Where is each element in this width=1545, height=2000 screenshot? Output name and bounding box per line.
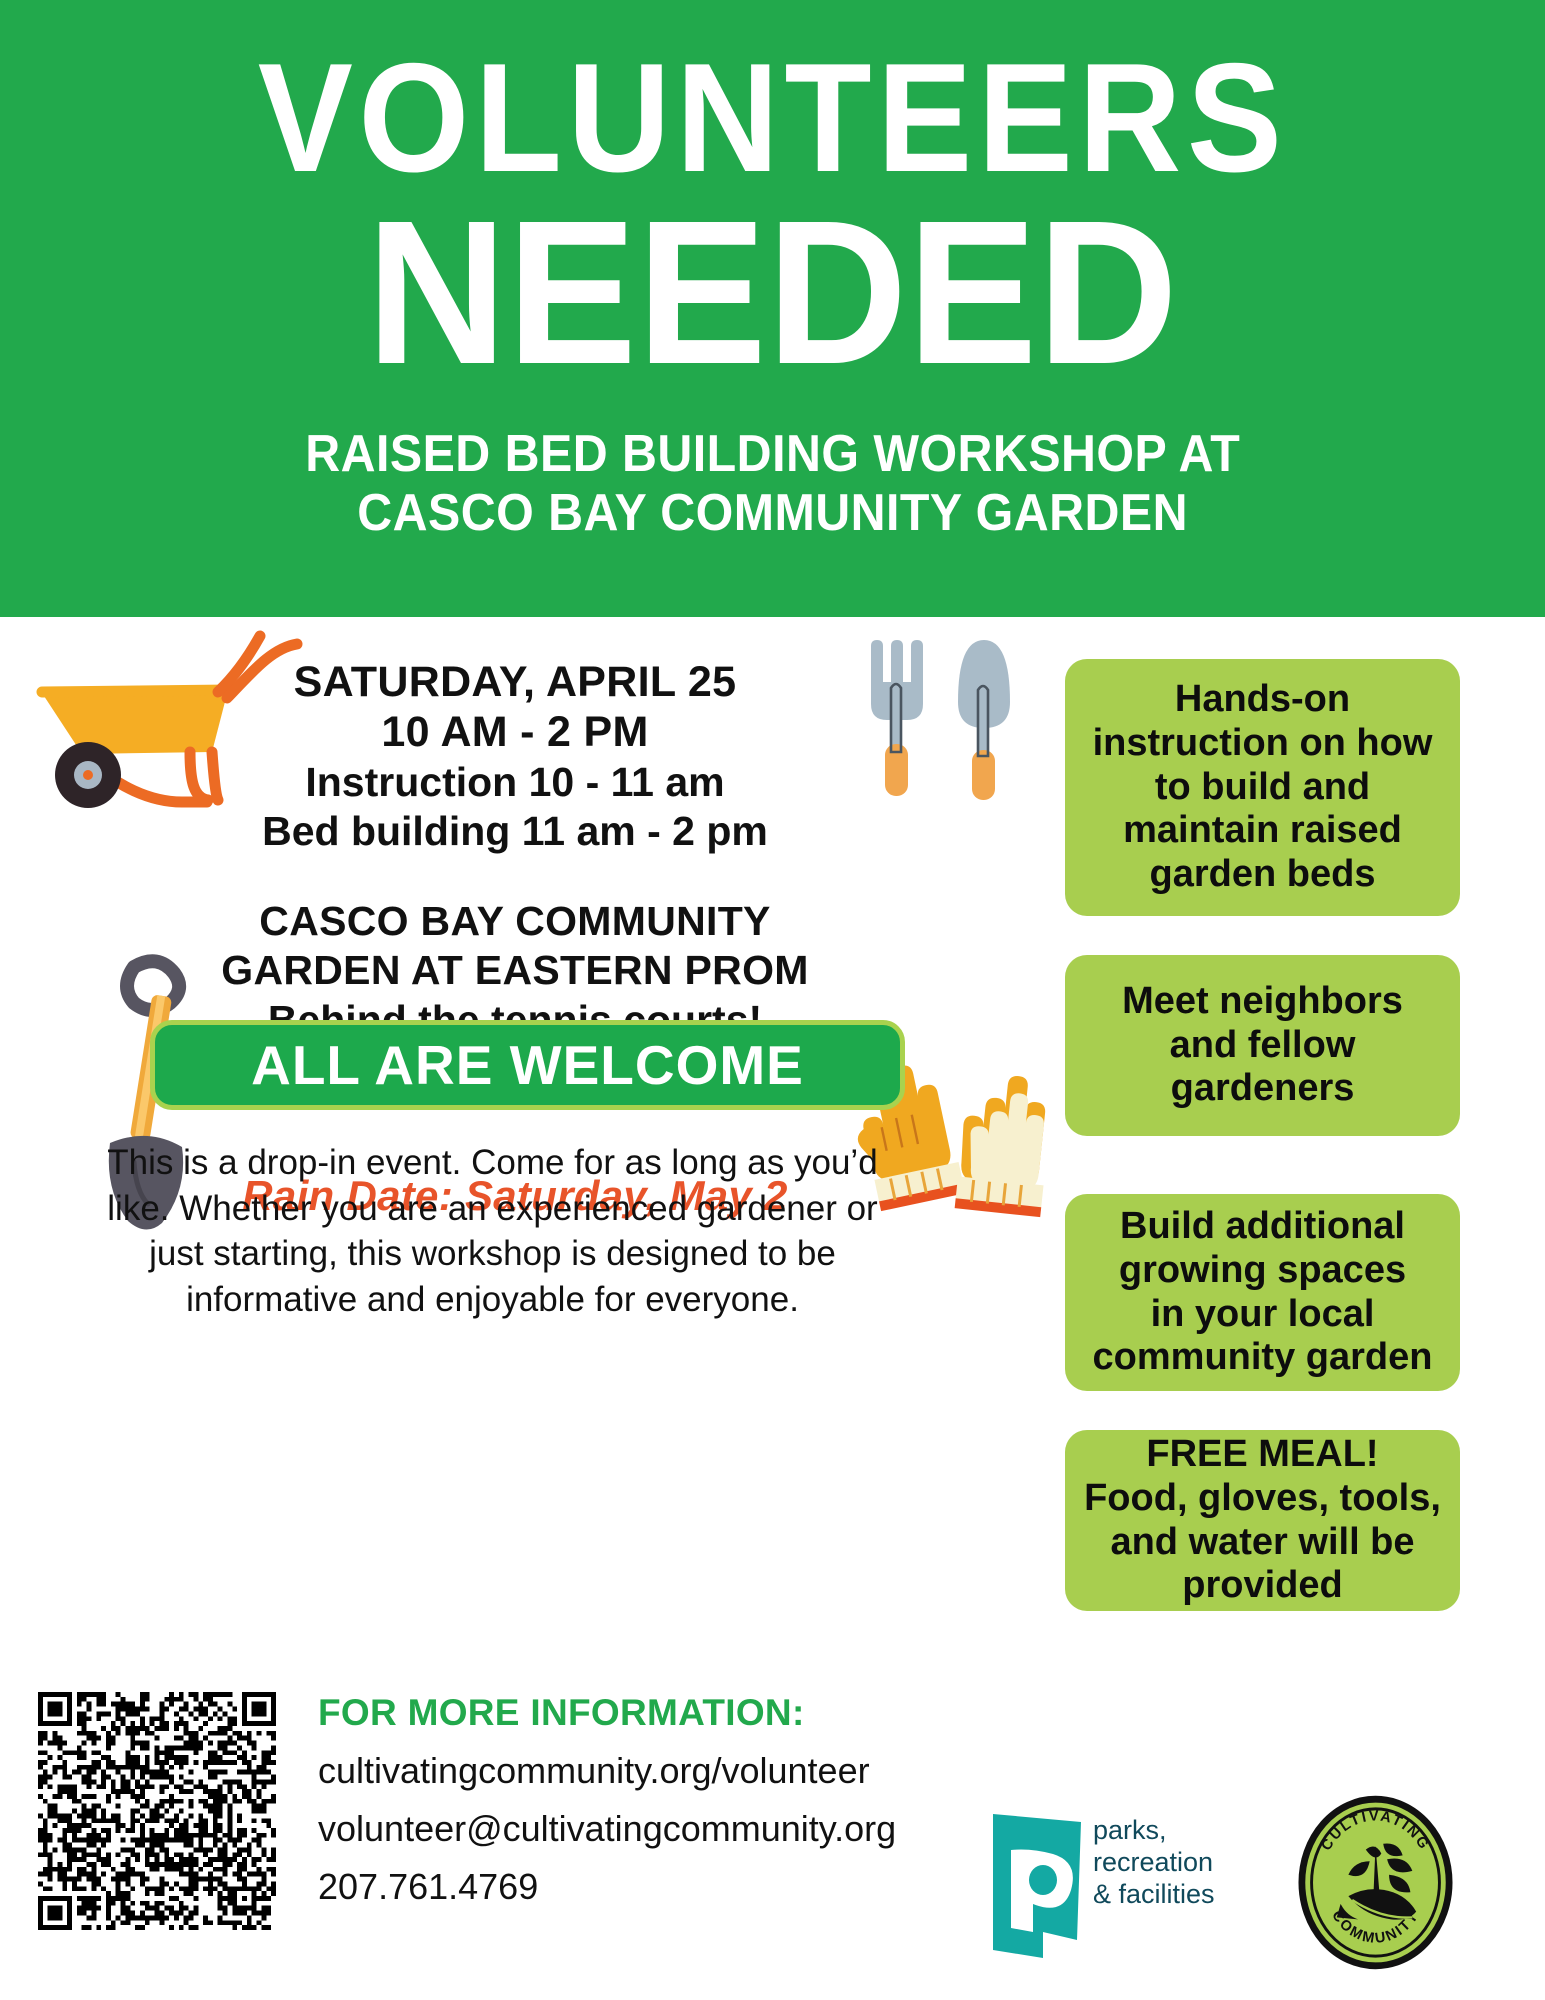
benefit-box-3-text: Build additional growing spaces in your …	[1093, 1205, 1433, 1380]
event-instruction-time: Instruction 10 - 11 am	[185, 758, 845, 807]
all-are-welcome-label: ALL ARE WELCOME	[251, 1033, 804, 1097]
benefit-box-1-text: Hands-on instruction on how to build and…	[1093, 678, 1433, 896]
event-datetime-block: SATURDAY, APRIL 25 10 AM - 2 PM Instruct…	[185, 657, 845, 856]
benefit-box-1: Hands-on instruction on how to build and…	[1065, 659, 1460, 916]
event-time: 10 AM - 2 PM	[185, 707, 845, 757]
benefit-box-3: Build additional growing spaces in your …	[1065, 1194, 1460, 1391]
location-line-1: CASCO BAY COMMUNITY	[175, 897, 855, 946]
qr-code[interactable]	[38, 1692, 276, 1930]
subtitle-line-2: CASCO BAY COMMUNITY GARDEN	[357, 484, 1188, 543]
all-are-welcome-banner[interactable]: ALL ARE WELCOME	[150, 1020, 905, 1110]
benefit-box-4: FREE MEAL! Food, gloves, tools, and wate…	[1065, 1430, 1460, 1611]
parks-logo-line-1: parks,	[1093, 1815, 1215, 1847]
benefit-box-2-text: Meet neighbors and fellow gardeners	[1122, 980, 1403, 1111]
parks-logo-line-3: & facilities	[1093, 1879, 1215, 1911]
headline-line-2: NEEDED	[367, 198, 1179, 389]
location-line-2: GARDEN AT EASTERN PROM	[175, 946, 855, 995]
hand-tools-illustration	[855, 616, 1045, 801]
headline-line-1: VOLUNTEERS	[258, 46, 1288, 190]
benefit-box-4-text: FREE MEAL! Food, gloves, tools, and wate…	[1084, 1433, 1441, 1608]
cultivating-community-logo: CULTIVATING COMMUNITY	[1298, 1795, 1453, 1970]
subtitle-line-1: RAISED BED BUILDING WORKSHOP AT	[305, 425, 1240, 484]
event-bedbuilding-time: Bed building 11 am - 2 pm	[185, 807, 845, 856]
event-date: SATURDAY, APRIL 25	[185, 657, 845, 707]
benefit-box-2: Meet neighbors and fellow gardeners	[1065, 955, 1460, 1136]
contact-email[interactable]: volunteer@cultivatingcommunity.org	[318, 1808, 998, 1850]
contact-website[interactable]: cultivatingcommunity.org/volunteer	[318, 1750, 998, 1792]
poster-header: VOLUNTEERS NEEDED RAISED BED BUILDING WO…	[0, 0, 1545, 617]
contact-heading: FOR MORE INFORMATION:	[318, 1692, 998, 1734]
parks-recreation-logo-text: parks, recreation & facilities	[1093, 1815, 1215, 1911]
contact-phone[interactable]: 207.761.4769	[318, 1866, 998, 1908]
poster-root: VOLUNTEERS NEEDED RAISED BED BUILDING WO…	[0, 0, 1545, 2000]
event-description: This is a drop-in event. Come for as lon…	[90, 1140, 895, 1322]
parks-logo-line-2: recreation	[1093, 1847, 1215, 1879]
contact-block: FOR MORE INFORMATION: cultivatingcommuni…	[318, 1692, 998, 1908]
